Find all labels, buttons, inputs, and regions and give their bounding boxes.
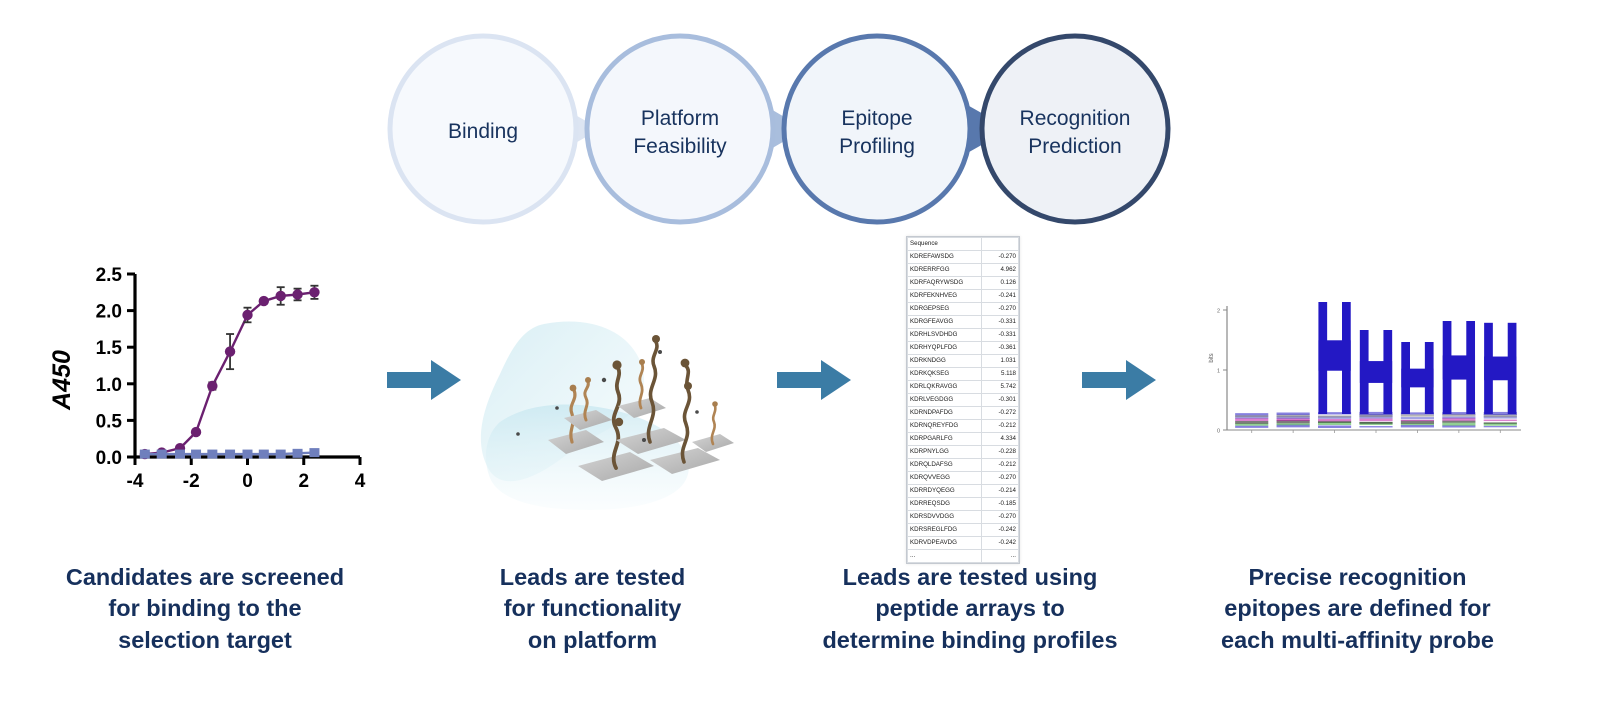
- logo-letter-stacks: [1235, 302, 1517, 428]
- logo-noise-letter: [1318, 415, 1351, 417]
- caption-1-line-2: for binding to the: [25, 593, 385, 624]
- caption-2-line-3: on platform: [425, 625, 760, 656]
- speck: [602, 378, 606, 382]
- sequence-cell: KDRQLDAFSG: [908, 459, 982, 472]
- score-cell: -0.272: [981, 407, 1018, 420]
- speck: [695, 410, 699, 414]
- score-cell: -0.270: [981, 472, 1018, 485]
- table-row: KDRKNDGG1.031: [908, 355, 1019, 368]
- score-cell: -0.361: [981, 342, 1018, 355]
- logo-noise-letter: [1318, 419, 1351, 421]
- sequence-cell: ...: [908, 550, 982, 563]
- logo-letter-H: [1484, 323, 1516, 414]
- logo-noise-letter: [1277, 423, 1310, 425]
- protein-strand: [682, 366, 689, 462]
- table-row: KDRRDYQEGG-0.214: [908, 485, 1019, 498]
- logo-noise-letter: [1235, 421, 1268, 424]
- caption-panel-4: Precise recognition epitopes are defined…: [1175, 562, 1540, 656]
- score-cell: 1.031: [981, 355, 1018, 368]
- svg-text:4: 4: [355, 471, 366, 492]
- protein-array-illustration: [478, 318, 734, 514]
- score-cell: -0.241: [981, 290, 1018, 303]
- svg-text:0.5: 0.5: [96, 411, 123, 432]
- logo-noise-letter: [1401, 425, 1434, 427]
- score-cell: -0.331: [981, 316, 1018, 329]
- sequence-cell: KDRHYQPLFDG: [908, 342, 982, 355]
- table-row: KDRQLDAFSG-0.212: [908, 459, 1019, 472]
- sequence-cell: KDRREQSDG: [908, 498, 982, 511]
- svg-text:-4: -4: [127, 471, 144, 492]
- logo-letter-H: [1443, 321, 1475, 414]
- score-cell: 5.742: [981, 381, 1018, 394]
- right-arrow-icon: [777, 360, 851, 400]
- svg-text:1.5: 1.5: [96, 338, 123, 359]
- chart-ticks: [127, 274, 360, 465]
- table-row: KDRNDPAFDG-0.272: [908, 407, 1019, 420]
- sequence-cell: KDRNDPAFDG: [908, 407, 982, 420]
- caption-3-line-1: Leads are tested using: [790, 562, 1150, 593]
- score-cell: -0.228: [981, 446, 1018, 459]
- table-row: KDRKQKSEG5.118: [908, 368, 1019, 381]
- sequence-cell: KDRSREGLFDG: [908, 524, 982, 537]
- table-row: KDRERRFGG4.962: [908, 264, 1019, 277]
- svg-text:0.0: 0.0: [96, 448, 122, 469]
- table-row: KDRFEKNHVEG-0.241: [908, 290, 1019, 303]
- table-row: KDRGFEAVGG-0.331: [908, 316, 1019, 329]
- logo-y-tick-labels: 012: [1217, 309, 1227, 435]
- chart-axis-label-y: A450: [48, 350, 76, 411]
- logo-noise-letter: [1442, 421, 1475, 423]
- sequence-cell: KDRERRFGG: [908, 264, 982, 277]
- right-arrow-icon: [387, 360, 461, 400]
- speck: [516, 432, 520, 436]
- logo-noise-letter: [1359, 419, 1392, 422]
- sequence-cell: KDRNQREYFDG: [908, 420, 982, 433]
- caption-panel-2: Leads are tested for functionality on pl…: [425, 562, 760, 656]
- sequence-cell: KDRLVEGDGG: [908, 394, 982, 407]
- score-cell: -0.212: [981, 459, 1018, 472]
- score-cell: -0.270: [981, 511, 1018, 524]
- logo-noise-letter: [1359, 426, 1392, 427]
- caption-3-line-2: peptide arrays to: [790, 593, 1150, 624]
- score-cell: 4.962: [981, 264, 1018, 277]
- sequence-cell: KDRLQKRAVGG: [908, 381, 982, 394]
- sequence-cell: KDRPGARLFG: [908, 433, 982, 446]
- sequence-cell: KDRGEPSEG: [908, 303, 982, 316]
- logo-noise-letter: [1277, 413, 1310, 415]
- table-row: KDRNQREYFDG-0.212: [908, 420, 1019, 433]
- logo-noise-letter: [1401, 414, 1434, 416]
- sequence-cell: KDRSDVVDGG: [908, 511, 982, 524]
- score-cell: -0.214: [981, 485, 1018, 498]
- logo-noise-letter: [1359, 422, 1392, 424]
- pipeline-diagram: Binding Platform Feasibility Epitope Pro…: [385, 32, 1175, 227]
- logo-noise-letter: [1484, 420, 1517, 422]
- stage-circle-binding: [390, 36, 576, 222]
- logo-noise-letter: [1235, 426, 1268, 428]
- sequence-cell: KDRRDYQEGG: [908, 485, 982, 498]
- sequence-cell: KDRQVVEGG: [908, 472, 982, 485]
- caption-4-line-3: each multi-affinity probe: [1175, 625, 1540, 656]
- table-row: KDRSREGLFDG-0.242: [908, 524, 1019, 537]
- chart-series: [140, 286, 320, 460]
- score-cell: -0.212: [981, 420, 1018, 433]
- sequence-logo-chart: 012 bits: [1185, 302, 1525, 447]
- table-row: KDRFAQRYWSDG0.126: [908, 277, 1019, 290]
- stage-circle-recognition: [982, 36, 1168, 222]
- score-cell: ...: [981, 550, 1018, 563]
- right-arrow-icon: [1082, 360, 1156, 400]
- table-row: KDRPGARLFG4.334: [908, 433, 1019, 446]
- flow-arrow-1: [385, 357, 463, 403]
- logo-noise-letter: [1235, 413, 1268, 415]
- flow-arrow-2: [775, 357, 853, 403]
- sequence-cell: KDRFAQRYWSDG: [908, 277, 982, 290]
- table-row: KDRHYQPLFDG-0.361: [908, 342, 1019, 355]
- table-row: ......: [908, 550, 1019, 563]
- logo-axis-label-y: bits: [1209, 353, 1215, 362]
- caption-3-line-3: determine binding profiles: [790, 625, 1150, 656]
- svg-text:2: 2: [1217, 309, 1220, 315]
- table-row: KDRSDVVDGG-0.270: [908, 511, 1019, 524]
- score-cell: -0.242: [981, 524, 1018, 537]
- table-row: KDRLQKRAVGG5.742: [908, 381, 1019, 394]
- score-cell: -0.301: [981, 394, 1018, 407]
- column-header: Sequence: [908, 238, 982, 251]
- score-cell: -0.270: [981, 251, 1018, 264]
- caption-4-line-2: epitopes are defined for: [1175, 593, 1540, 624]
- score-cell: -0.270: [981, 303, 1018, 316]
- table-row: KDRPNYLGG-0.228: [908, 446, 1019, 459]
- sequence-cell: KDRFEKNHVEG: [908, 290, 982, 303]
- elisa-dose-response-chart: 0.00.51.01.52.02.5 -4-2024 A450: [40, 262, 370, 502]
- table-row: KDRGEPSEG-0.270: [908, 303, 1019, 316]
- logo-noise-letter: [1442, 417, 1475, 419]
- table-row: KDRREQSDG-0.185: [908, 498, 1019, 511]
- chart-y-tick-labels: 0.00.51.01.52.02.5: [96, 265, 123, 469]
- logo-noise-letter: [1442, 423, 1475, 426]
- sequence-cell: KDRGFEAVGG: [908, 316, 982, 329]
- flow-arrow-3: [1080, 357, 1158, 403]
- stage-circle-epitope: [784, 36, 970, 222]
- speck: [642, 438, 646, 442]
- caption-1-line-1: Candidates are screened: [25, 562, 385, 593]
- svg-text:2.0: 2.0: [96, 302, 122, 323]
- speck: [555, 406, 559, 410]
- sequence-cell: KDRHLSVDHDG: [908, 329, 982, 342]
- logo-noise-letter: [1318, 425, 1351, 428]
- sequence-cell: KDRPNYLGG: [908, 446, 982, 459]
- stage-circle-platform: [587, 36, 773, 222]
- caption-1-line-3: selection target: [25, 625, 385, 656]
- peptide-spot-7: [692, 401, 734, 452]
- score-cell: -0.242: [981, 537, 1018, 550]
- logo-letter-H: [1401, 342, 1433, 414]
- score-cell: 4.334: [981, 433, 1018, 446]
- svg-text:1.0: 1.0: [96, 375, 122, 396]
- logo-noise-letter: [1401, 417, 1434, 419]
- table-header-row: Sequence: [908, 238, 1019, 251]
- logo-noise-letter: [1401, 420, 1434, 421]
- caption-panel-3: Leads are tested using peptide arrays to…: [790, 562, 1150, 656]
- logo-letter-H: [1360, 330, 1392, 414]
- table-row: KDRHLSVDHDG-0.331: [908, 329, 1019, 342]
- caption-2-line-1: Leads are tested: [425, 562, 760, 593]
- table-row: KDRLVEGDGG-0.301: [908, 394, 1019, 407]
- svg-text:-2: -2: [183, 471, 200, 492]
- caption-4-line-1: Precise recognition: [1175, 562, 1540, 593]
- sequence-cell: KDREFAWSDG: [908, 251, 982, 264]
- svg-text:0: 0: [1217, 429, 1220, 435]
- caption-panel-1: Candidates are screened for binding to t…: [25, 562, 385, 656]
- score-cell: 0.126: [981, 277, 1018, 290]
- svg-text:2: 2: [298, 471, 309, 492]
- svg-text:0: 0: [242, 471, 253, 492]
- sequence-cell: KDRKQKSEG: [908, 368, 982, 381]
- peptide-sequence-table: SequenceKDREFAWSDG-0.270KDRERRFGG4.962KD…: [906, 236, 1020, 564]
- sequence-cell: KDRKNDGG: [908, 355, 982, 368]
- logo-noise-letter: [1484, 422, 1517, 423]
- table-row: KDRVDPEAVDG-0.242: [908, 537, 1019, 550]
- score-cell: 5.118: [981, 368, 1018, 381]
- sequence-table: SequenceKDREFAWSDG-0.270KDRERRFGG4.962KD…: [907, 237, 1019, 563]
- table-row: KDRQVVEGG-0.270: [908, 472, 1019, 485]
- caption-2-line-2: for functionality: [425, 593, 760, 624]
- chart-x-tick-labels: -4-2024: [127, 471, 366, 492]
- sequence-cell: KDRVDPEAVDG: [908, 537, 982, 550]
- logo-noise-letter: [1442, 425, 1475, 427]
- speck: [658, 350, 662, 354]
- svg-text:2.5: 2.5: [96, 265, 123, 286]
- table-row: KDREFAWSDG-0.270: [908, 251, 1019, 264]
- svg-text:1: 1: [1217, 369, 1220, 375]
- column-header: [981, 238, 1018, 251]
- logo-noise-letter: [1484, 426, 1517, 427]
- logo-letter-H: [1318, 302, 1350, 414]
- score-cell: -0.331: [981, 329, 1018, 342]
- score-cell: -0.185: [981, 498, 1018, 511]
